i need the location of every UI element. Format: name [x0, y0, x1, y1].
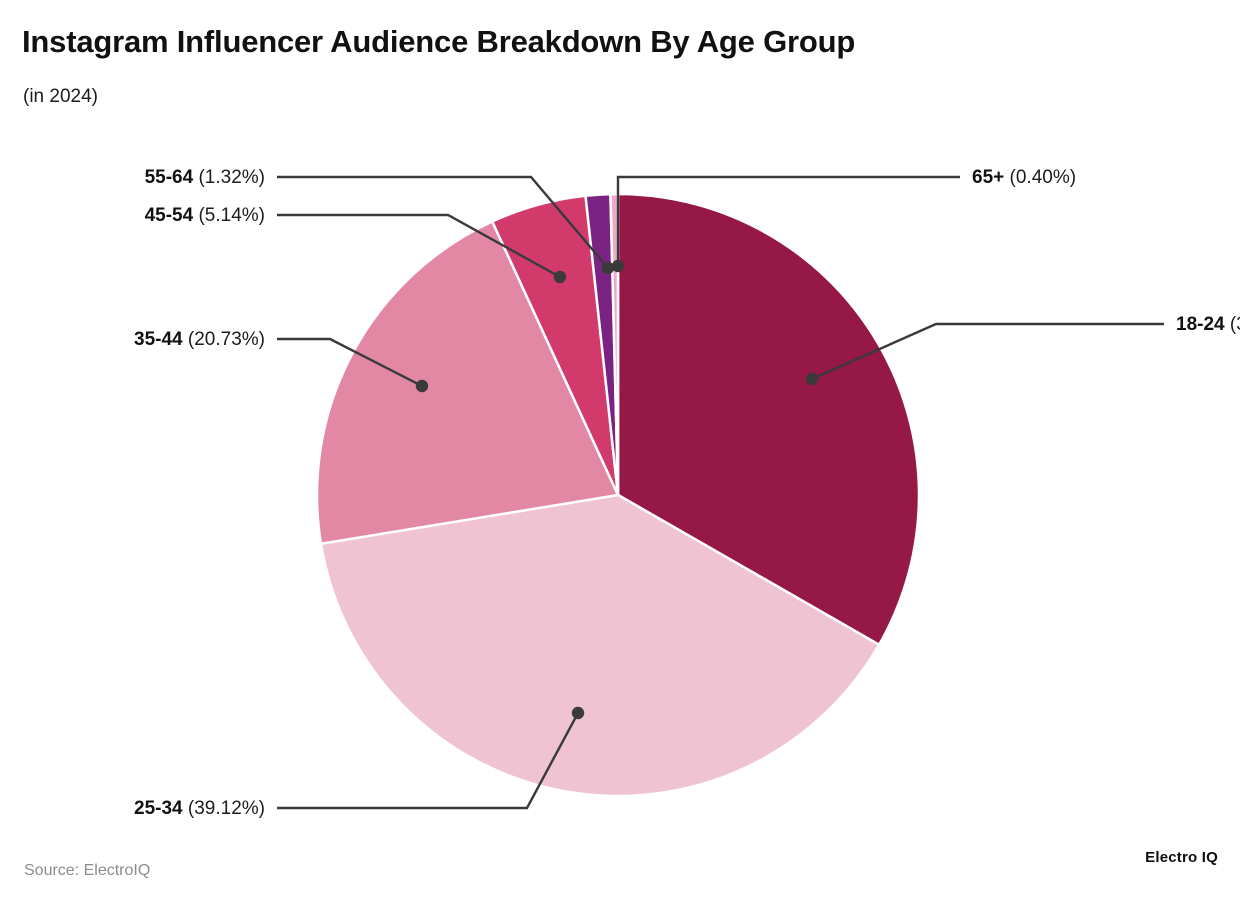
leader-dot-25-34: [572, 707, 584, 719]
callout-category-25-34: 25-34: [134, 798, 183, 819]
callout-value-35-44: (20.73%): [188, 329, 265, 350]
callout-label-65plus: 65+ (0.40%): [972, 168, 1076, 187]
callout-label-25-34: 25-34 (39.12%): [134, 799, 265, 818]
callout-value-55-64: (1.32%): [198, 167, 265, 188]
callout-label-55-64: 55-64 (1.32%): [145, 168, 265, 187]
source-caption: Source: ElectroIQ: [24, 862, 150, 880]
callout-category-65plus: 65+: [972, 167, 1004, 188]
callout-category-18-24: 18-24: [1176, 314, 1225, 335]
callout-value-65plus: (0.40%): [1010, 167, 1077, 188]
callout-value-45-54: (5.14%): [198, 205, 265, 226]
callout-category-45-54: 45-54: [145, 205, 194, 226]
callout-category-35-44: 35-44: [134, 329, 183, 350]
callout-value-25-34: (39.12%): [188, 798, 265, 819]
chart-canvas: Instagram Influencer Audience Breakdown …: [0, 0, 1240, 910]
callout-value-18-24: (33.29%): [1230, 314, 1240, 335]
callout-label-45-54: 45-54 (5.14%): [145, 206, 265, 225]
pie-slices: [317, 194, 919, 796]
leader-dot-18-24: [806, 373, 818, 385]
pie-chart: 18-24 (33.29%) 65+ (0.40%) 55-64 (1.32%)…: [0, 0, 1240, 910]
leader-dot-45-54: [554, 271, 566, 283]
callout-label-18-24: 18-24 (33.29%): [1176, 315, 1240, 334]
brand-logo: Electro IQ: [1145, 849, 1218, 866]
callout-label-35-44: 35-44 (20.73%): [134, 330, 265, 349]
leader-dot-35-44: [416, 380, 428, 392]
pie-chart-svg: [0, 0, 1240, 910]
callout-category-55-64: 55-64: [145, 167, 194, 188]
leader-dot-65plus: [612, 260, 624, 272]
